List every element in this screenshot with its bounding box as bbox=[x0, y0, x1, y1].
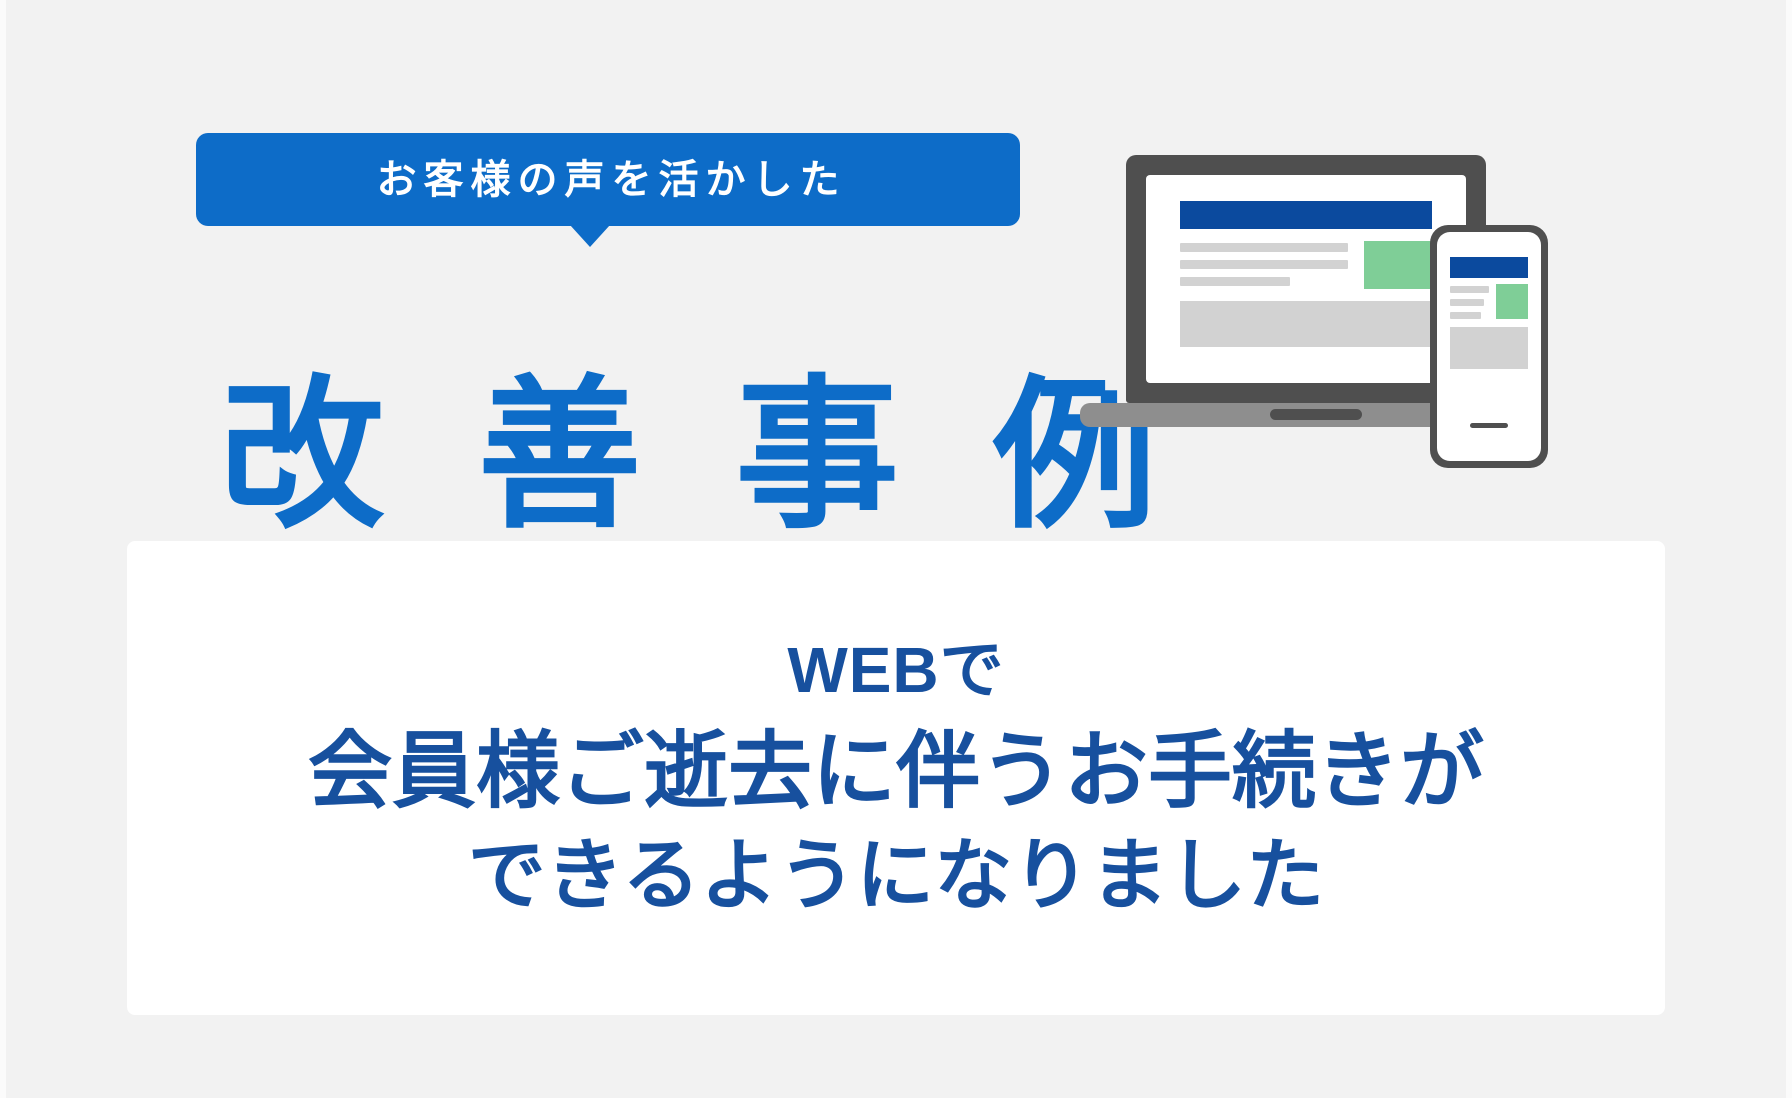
smartphone-screen bbox=[1437, 232, 1541, 461]
message-card: WEBで 会員様ご逝去に伴うお手続きが できるようになりました bbox=[127, 541, 1665, 1015]
phone-screen-text-line-1 bbox=[1450, 286, 1489, 293]
phone-screen-header-bar bbox=[1450, 257, 1528, 278]
laptop-screen-text-line-3 bbox=[1180, 277, 1290, 286]
laptop-trackpad-notch bbox=[1270, 409, 1362, 420]
message-line-1: WEBで bbox=[308, 630, 1484, 712]
laptop-screen-content-block bbox=[1180, 301, 1432, 347]
page-title: 改 善 事 例 bbox=[196, 374, 1026, 538]
laptop-screen-text-line-1 bbox=[1180, 243, 1348, 252]
page-root: お客様の声を活かした 改 善 事 例 bbox=[0, 0, 1792, 1120]
smartphone-icon bbox=[1430, 225, 1548, 468]
phone-home-indicator bbox=[1470, 423, 1508, 428]
phone-screen-accent-block bbox=[1496, 284, 1528, 319]
laptop-screen-accent-block bbox=[1364, 241, 1432, 289]
laptop-screen-header-bar bbox=[1180, 201, 1432, 229]
message-line-2: 会員様ご逝去に伴うお手続きが bbox=[308, 718, 1484, 826]
eyebrow-badge: お客様の声を活かした bbox=[196, 133, 1020, 241]
phone-screen-text-line-2 bbox=[1450, 299, 1484, 306]
device-illustration bbox=[1080, 155, 1600, 475]
message-line-3: できるようになりました bbox=[308, 826, 1484, 926]
laptop-screen-text-line-2 bbox=[1180, 260, 1348, 269]
eyebrow-badge-label: お客様の声を活かした bbox=[196, 160, 1020, 200]
eyebrow-badge-body: お客様の声を活かした bbox=[196, 133, 1020, 226]
hero-section: お客様の声を活かした 改 善 事 例 bbox=[0, 0, 1792, 530]
bottom-edge-gutter bbox=[0, 1098, 1792, 1120]
phone-screen-text-line-3 bbox=[1450, 312, 1481, 319]
laptop-screen bbox=[1146, 175, 1466, 383]
phone-screen-content-block bbox=[1450, 327, 1528, 369]
speech-bubble-tail-icon bbox=[570, 225, 610, 247]
message-card-text: WEBで 会員様ご逝去に伴うお手続きが できるようになりました bbox=[308, 630, 1484, 925]
